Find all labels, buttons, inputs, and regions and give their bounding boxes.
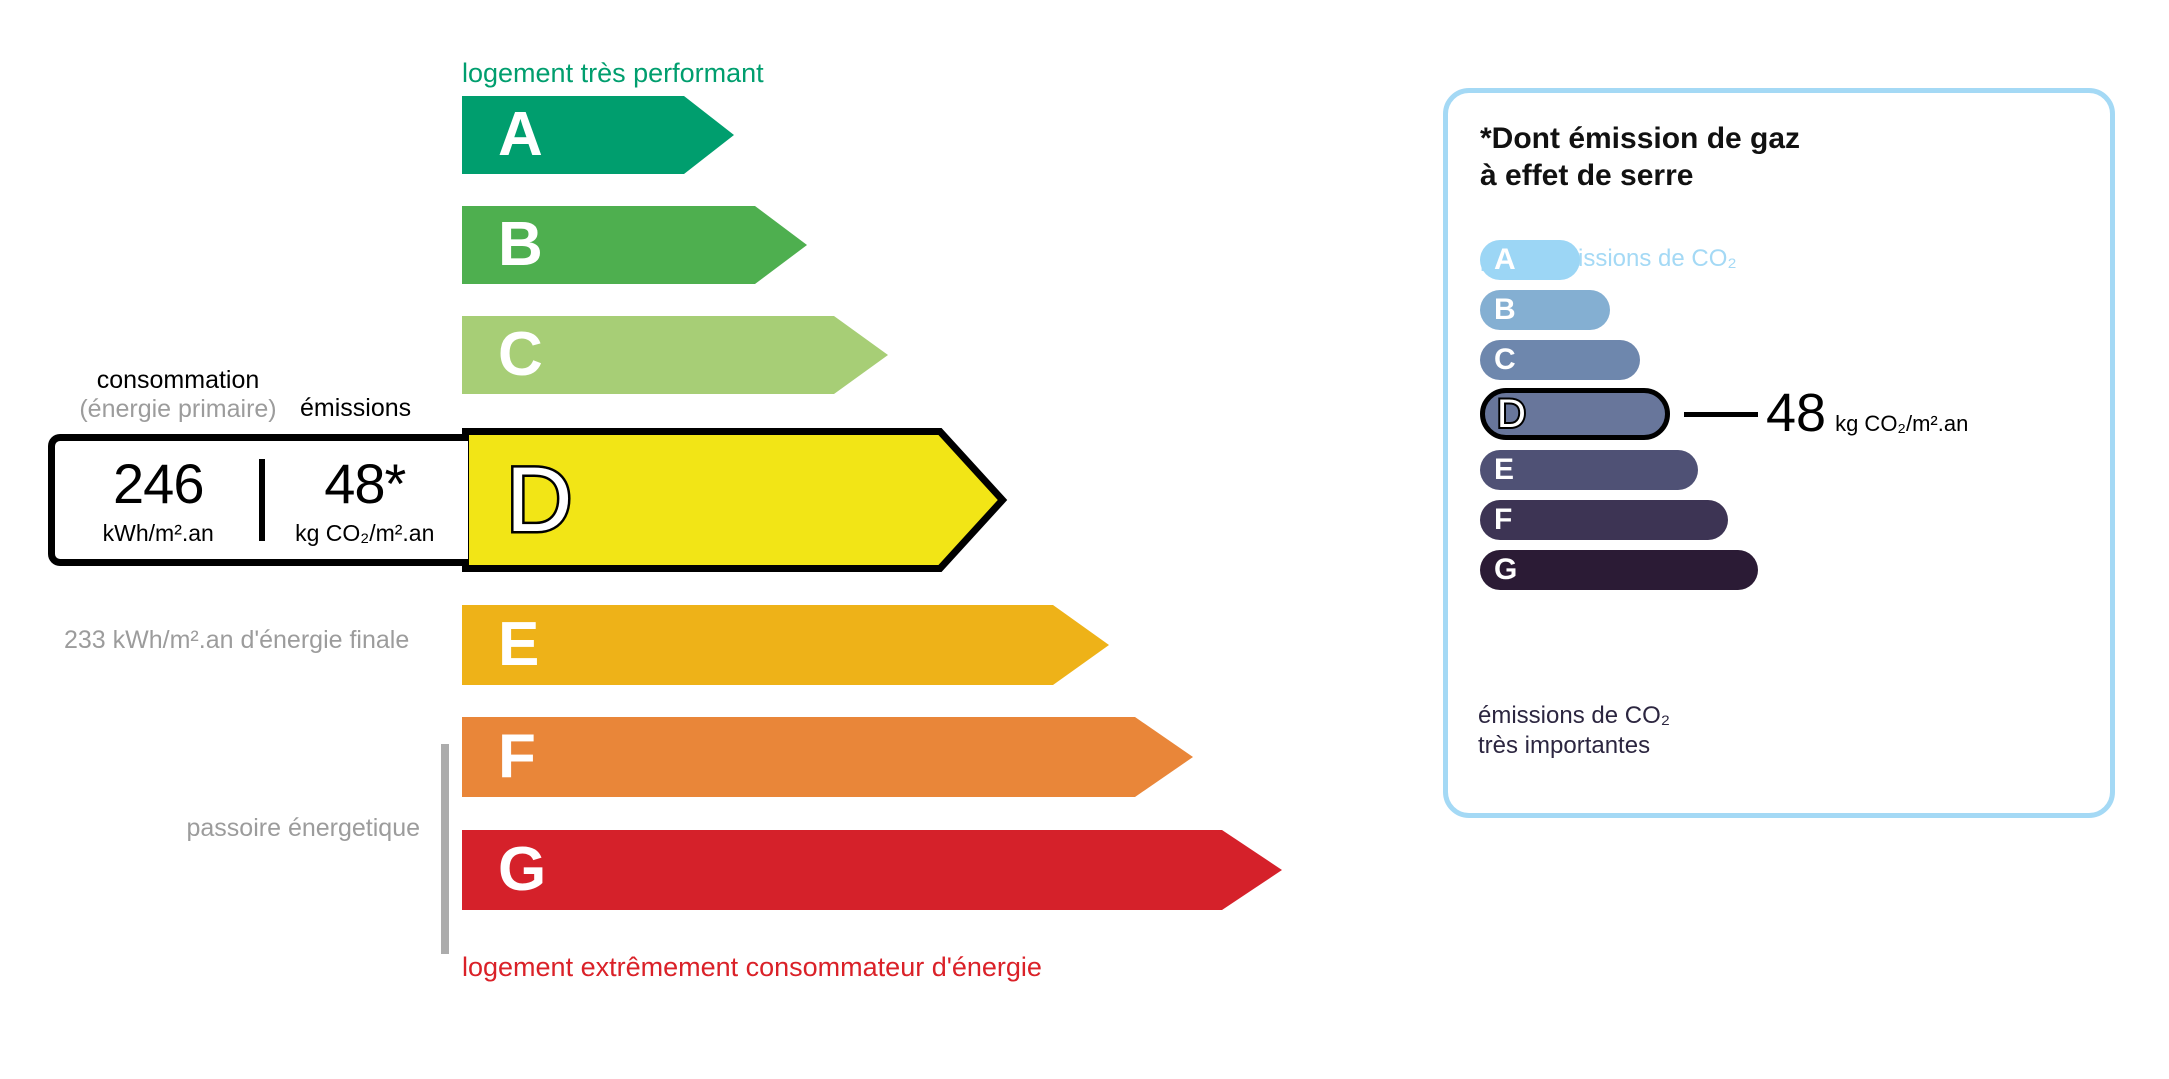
- grade-row-d: D: [462, 428, 1006, 572]
- ges-bar-g: G: [1480, 550, 1758, 590]
- ges-bar-b: B: [1480, 290, 1610, 330]
- grade-row-g: G: [462, 830, 1282, 910]
- ges-leader-line: [1684, 412, 1758, 417]
- value-box: 246 kWh/m².an 48* kg CO₂/m².an: [48, 434, 468, 566]
- grade-letter-c: C: [498, 324, 543, 386]
- grade-row-a: A: [462, 96, 734, 174]
- consumption-label-main: consommation: [97, 366, 260, 394]
- grade-arrow-e: [462, 605, 1109, 685]
- ges-value-unit: kg CO₂/m².an: [1835, 413, 1968, 435]
- ges-letter-f: F: [1494, 505, 1512, 535]
- grade-arrow-f: [462, 717, 1193, 797]
- ges-panel-title: *Dont émission de gaz à effet de serre: [1480, 121, 1800, 194]
- emission-value-cell: 48* kg CO₂/m².an: [262, 441, 469, 559]
- emissions-label: émissions: [300, 394, 411, 423]
- grade-row-b: B: [462, 206, 807, 284]
- grade-row-c: C: [462, 316, 888, 394]
- scale-bottom-caption: logement extrêmement consommateur d'éner…: [462, 952, 1042, 983]
- passoire-energetique-label: passoire énergetique: [180, 812, 420, 844]
- ges-letter-e: E: [1494, 455, 1514, 485]
- passoire-energetique-marker: [441, 744, 449, 954]
- scale-top-caption: logement très performant: [462, 58, 764, 89]
- consumption-value-cell: 246 kWh/m².an: [55, 441, 262, 559]
- ges-value-number: 48: [1766, 386, 1826, 440]
- consumption-unit: kWh/m².an: [103, 522, 214, 545]
- ges-bar-a: A: [1480, 240, 1580, 280]
- final-energy-label: 233 kWh/m².an d'énergie finale: [64, 624, 409, 656]
- ges-letter-b: B: [1494, 295, 1516, 325]
- grade-letter-d: D: [506, 454, 572, 546]
- ges-letter-c: C: [1494, 345, 1516, 375]
- ges-bar-f: F: [1480, 500, 1728, 540]
- ges-bar-e: E: [1480, 450, 1698, 490]
- grade-arrow-g: [462, 830, 1282, 910]
- emission-value: 48*: [324, 456, 405, 512]
- consumption-value: 246: [113, 456, 203, 512]
- emission-unit: kg CO₂/m².an: [295, 522, 434, 545]
- grade-letter-f: F: [498, 726, 536, 788]
- grade-letter-g: G: [498, 839, 546, 901]
- grade-row-e: E: [462, 605, 1109, 685]
- energy-performance-scale: logement très performant ABCDEFG passoir…: [0, 0, 1400, 1079]
- ges-bottom-caption: émissions de CO₂ très importantes: [1478, 701, 1670, 761]
- grade-letter-e: E: [498, 614, 539, 676]
- ges-bar-d: D: [1480, 388, 1670, 440]
- grade-row-f: F: [462, 717, 1193, 797]
- dpe-diagram: logement très performant ABCDEFG passoir…: [0, 0, 2169, 1079]
- grade-letter-a: A: [498, 104, 543, 166]
- consumption-label: consommation (énergie primaire): [48, 366, 308, 424]
- consumption-label-sub: (énergie primaire): [48, 395, 308, 424]
- ges-bar-c: C: [1480, 340, 1640, 380]
- ges-letter-g: G: [1494, 555, 1517, 585]
- ges-panel: *Dont émission de gaz à effet de serre p…: [1443, 88, 2115, 818]
- ges-value-callout: 48 kg CO₂/m².an: [1766, 386, 1968, 440]
- grade-letter-b: B: [498, 214, 543, 276]
- ges-letter-d: D: [1497, 394, 1526, 434]
- ges-letter-a: A: [1494, 245, 1516, 275]
